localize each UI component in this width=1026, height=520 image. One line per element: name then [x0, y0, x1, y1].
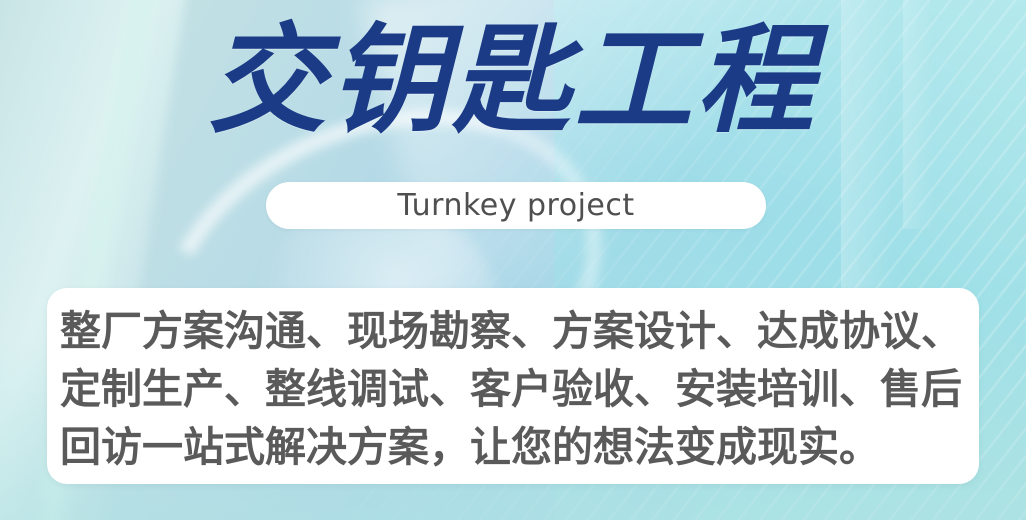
- description-line: 整厂方案沟通、现场勘察、方案设计、达成协议、: [60, 302, 966, 360]
- description-line: 定制生产、整线调试、客户验收、安装培训、售后: [60, 360, 966, 418]
- page-title: 交钥匙工程: [0, 14, 1026, 146]
- description-card: 整厂方案沟通、现场勘察、方案设计、达成协议、 定制生产、整线调试、客户验收、安装…: [47, 288, 979, 484]
- banner-content: 交钥匙工程 Turnkey project 整厂方案沟通、现场勘察、方案设计、达…: [0, 0, 1026, 520]
- turnkey-project-banner: 交钥匙工程 Turnkey project 整厂方案沟通、现场勘察、方案设计、达…: [0, 0, 1026, 520]
- description-text: 整厂方案沟通、现场勘察、方案设计、达成协议、 定制生产、整线调试、客户验收、安装…: [60, 302, 966, 476]
- subtitle-pill: Turnkey project: [266, 182, 766, 229]
- subtitle-label: Turnkey project: [397, 188, 634, 223]
- description-line: 回访一站式解决方案，让您的想法变成现实。: [60, 418, 966, 476]
